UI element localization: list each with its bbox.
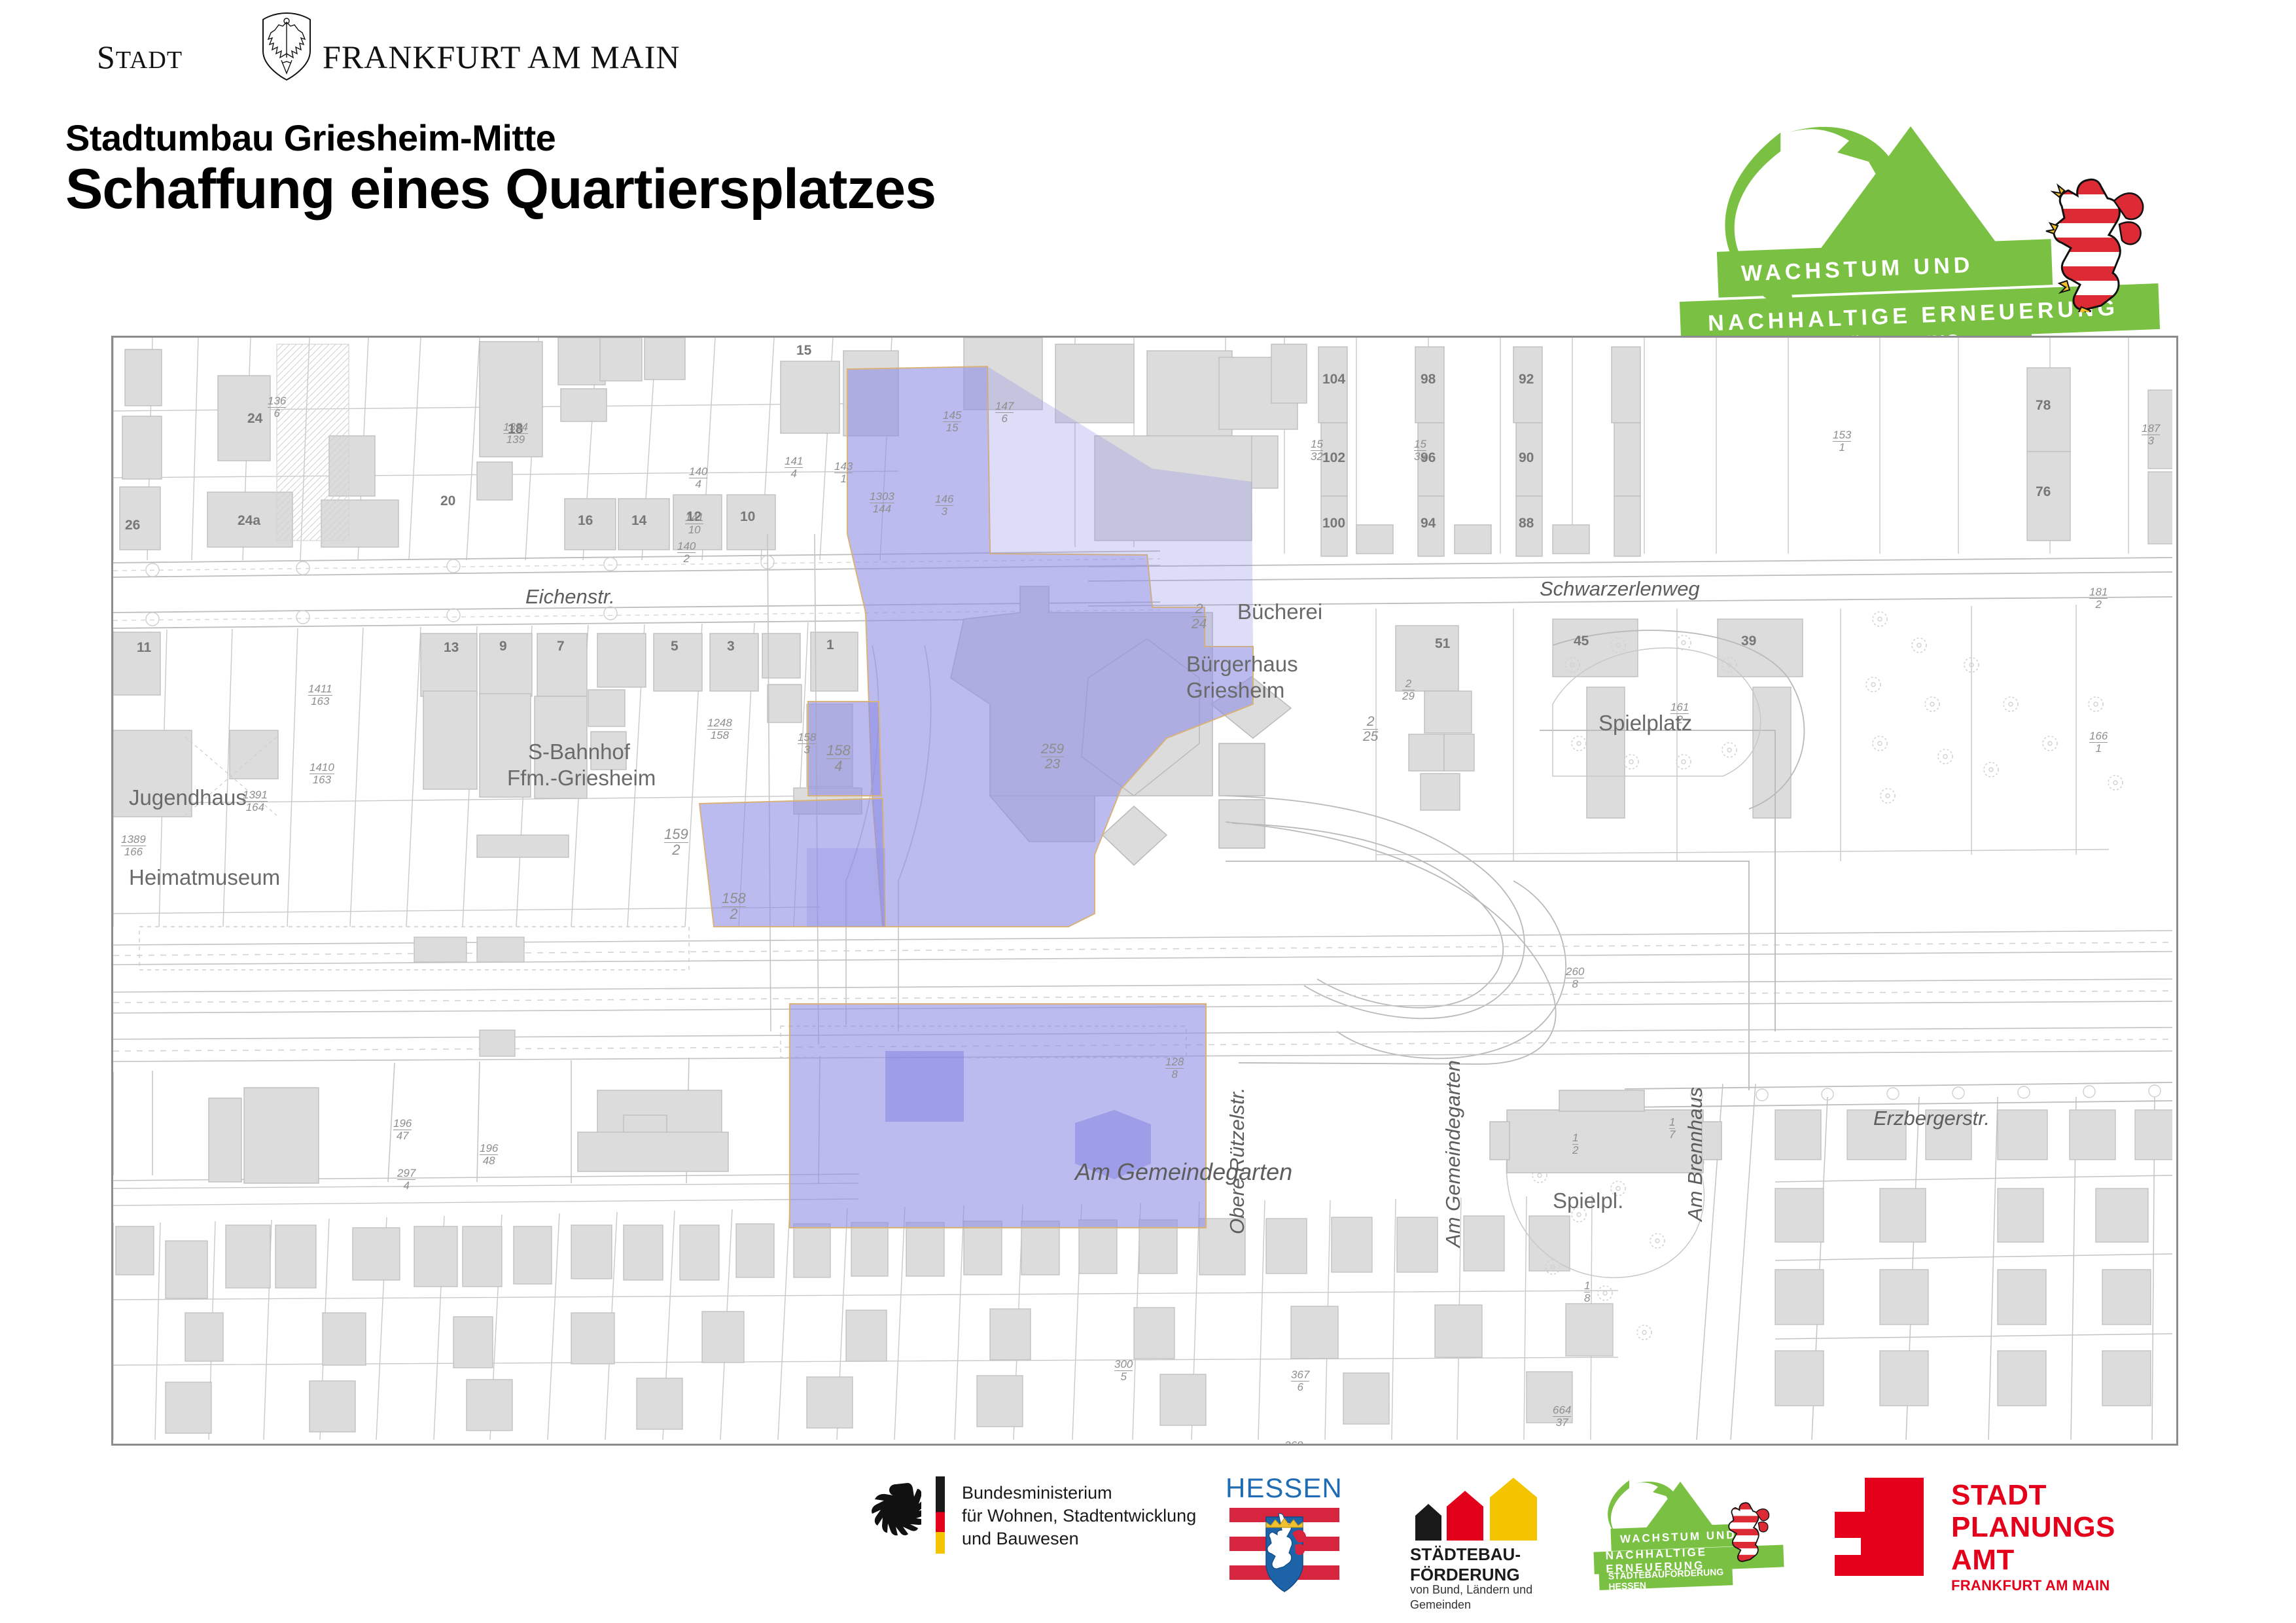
german-flag-bar (936, 1476, 945, 1554)
city-of-frankfurt-logo: STADT FRANKFURT AM MAIN (97, 34, 516, 83)
bundesadler-icon (870, 1480, 921, 1543)
staedtebaufoerderung-subcaption: von Bund, Ländern und Gemeinden (1410, 1582, 1532, 1613)
spa-line-3: AMT (1951, 1544, 2115, 1576)
spa-line-2: PLANUNGS (1951, 1511, 2115, 1543)
page-header: STADT FRANKFURT AM MAIN Stadtumbau Gries… (0, 0, 2296, 308)
bmwsb-label: Bundesministerium für Wohnen, Stadtentwi… (962, 1482, 1196, 1550)
city-logo-text-right: FRANKFURT AM MAIN (323, 38, 680, 76)
parcel-number: 3686 (1284, 1440, 1303, 1446)
city-logo-text-left: STADT (97, 38, 183, 76)
stadtplanungsamt-logo: STADT PLANUNGS AMT FRANKFURT AM MAIN (1832, 1478, 2172, 1596)
stadtplanungsamt-block-icon (1832, 1478, 1924, 1576)
hessen-lion-icon (1725, 1495, 1772, 1563)
three-houses-icon (1410, 1475, 1567, 1541)
frankfurt-eagle-crest-icon (259, 10, 314, 82)
sbf-line-1: STÄDTEBAU- (1410, 1544, 1521, 1565)
hessen-wordmark: HESSEN (1226, 1472, 1343, 1504)
hessen-lion-icon (2045, 162, 2149, 312)
stadtplanungsamt-wordmark: STADT PLANUNGS AMT (1951, 1479, 2115, 1576)
wachstum-nachhaltige-erneuerung-logo-footer: WACHSTUM UND NACHHALTIGE ERNEUERUNG STÄD… (1597, 1479, 1806, 1603)
bmwsb-line-1: Bundesministerium (962, 1482, 1196, 1505)
staedtebaufoerderung-logo: STÄDTEBAU- FÖRDERUNG von Bund, Ländern u… (1410, 1475, 1567, 1606)
bmwsb-line-2: für Wohnen, Stadtentwicklung (962, 1505, 1196, 1527)
stadtplanungsamt-subline: FRANKFURT AM MAIN (1951, 1577, 2110, 1594)
sbf-sub-2: Gemeinden (1410, 1597, 1532, 1613)
hessen-flag-lion-icon (1226, 1504, 1343, 1596)
sbf-sub-1: von Bund, Ländern und (1410, 1582, 1532, 1597)
page-title: Schaffung eines Quartiersplatzes (65, 157, 936, 222)
bmwsb-line-3: und Bauwesen (962, 1527, 1196, 1550)
spa-line-1: STADT (1951, 1479, 2115, 1511)
hessen-state-logo: HESSEN (1226, 1472, 1343, 1590)
map-canvas (113, 338, 2172, 1440)
page-footer: Bundesministerium für Wohnen, Stadtentwi… (0, 1466, 2296, 1623)
wnl-footer-line3: STÄDTEBAUFÖRDERUNG HESSEN (1599, 1568, 1733, 1590)
cadastral-map[interactable]: Eichenstr. Schwarzerlenweg Am Gemeindega… (111, 336, 2178, 1446)
staedtebaufoerderung-caption: STÄDTEBAU- FÖRDERUNG (1410, 1544, 1521, 1585)
project-subtitle: Stadtumbau Griesheim-Mitte (65, 116, 556, 159)
